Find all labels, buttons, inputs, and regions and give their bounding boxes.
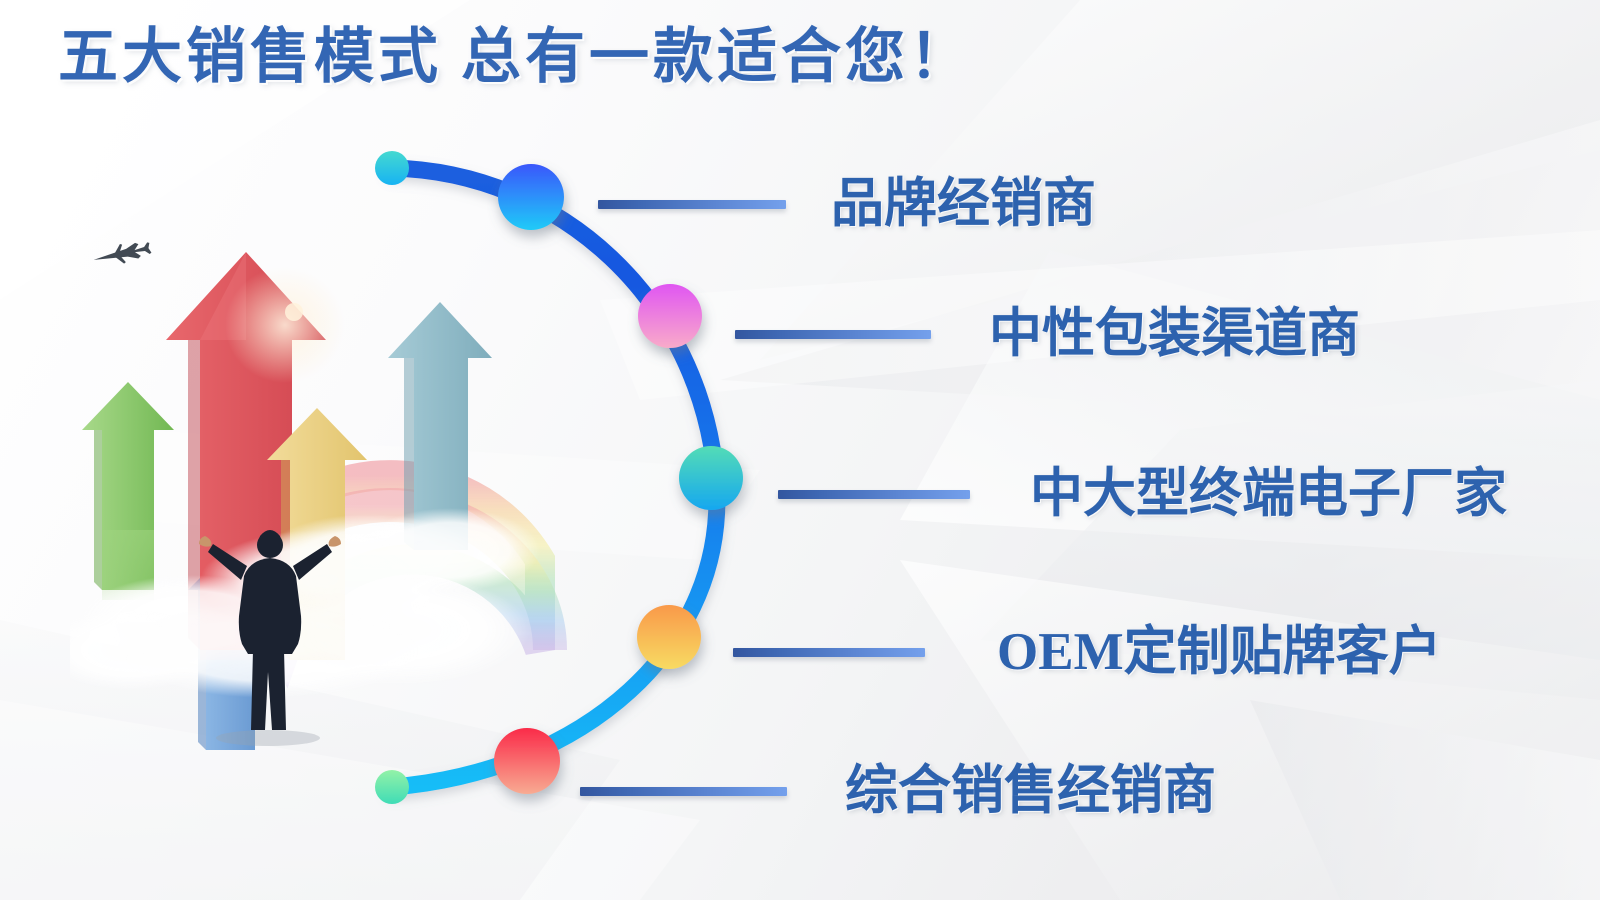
infographic-canvas: 五大销售模式 总有一款适合您！ xyxy=(0,0,1600,900)
process-arc xyxy=(392,168,717,787)
sales-mode-label-5: 综合销售经销商 xyxy=(845,765,1216,818)
sales-mode-row-5[interactable]: 综合销售经销商 xyxy=(580,765,1216,818)
node-4 xyxy=(637,605,701,669)
connector-bar-2 xyxy=(735,330,931,339)
connector-bar-1 xyxy=(598,200,786,209)
connector-bar-5 xyxy=(580,787,787,796)
node-3 xyxy=(679,446,743,510)
sales-mode-label-3: 中大型终端电子厂家 xyxy=(1030,468,1507,521)
sales-mode-row-3[interactable]: 中大型终端电子厂家 xyxy=(778,468,1507,521)
arc-endpoint-bottom-dot xyxy=(375,770,409,804)
sales-mode-label-1: 品牌经销商 xyxy=(831,178,1096,231)
connector-bar-4 xyxy=(733,648,925,657)
arc-endpoint-top-dot xyxy=(375,151,409,185)
sales-mode-row-2[interactable]: 中性包装渠道商 xyxy=(735,308,1360,361)
node-5 xyxy=(494,728,560,794)
connector-bar-3 xyxy=(778,490,970,499)
sales-mode-label-4: OEM定制贴牌客户 xyxy=(997,626,1442,679)
sales-mode-label-2: 中性包装渠道商 xyxy=(989,308,1360,361)
node-1 xyxy=(498,164,564,230)
sales-mode-row-1[interactable]: 品牌经销商 xyxy=(598,178,1096,231)
sales-mode-row-4[interactable]: OEM定制贴牌客户 xyxy=(733,626,1442,679)
node-2 xyxy=(638,284,702,348)
